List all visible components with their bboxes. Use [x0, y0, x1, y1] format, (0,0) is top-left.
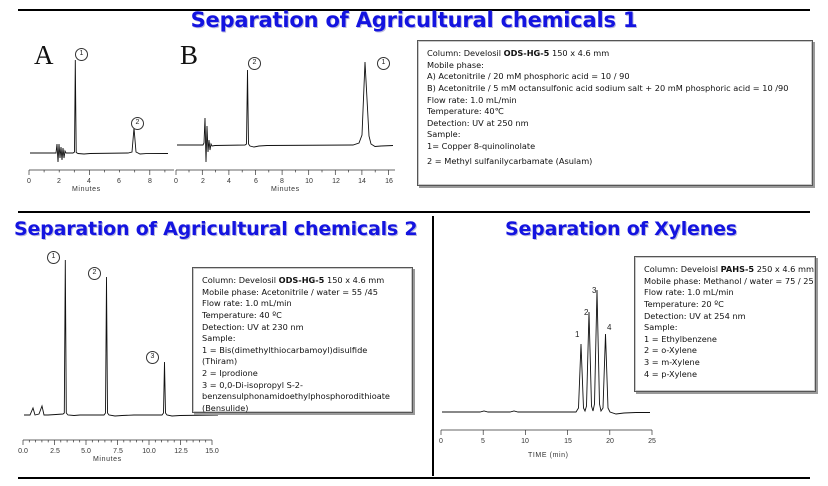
method-info-box-xylenes: Column: Develoisl PAHS-5 250 x 4.6 mm Mo… [634, 256, 816, 392]
chromatogram-b-xtick-0: 0 [174, 178, 178, 185]
peak-label-a-2: 2 [131, 117, 144, 130]
chromatogram-b-xlabel: Minutes [271, 186, 300, 193]
chromatogram-xylenes-xtick-0: 0 [439, 438, 443, 445]
chromatogram-b-xaxis [175, 168, 399, 178]
info-line: 3 = 0,0-Di-isopropyl S-2-benzensulphonam… [202, 380, 403, 415]
chromatogram-a-xtick-0: 0 [27, 178, 31, 185]
chromatogram-agchem2-xlabel: Minutes [93, 456, 122, 463]
method-info-box-agricultural-1: Column: Develosil ODS-HG-5 150 x 4.6 mm … [417, 40, 813, 186]
chromatogram-b [175, 40, 397, 165]
info-line: Sample: [202, 333, 403, 345]
page-title-xylenes: Separation of Xylenes [505, 218, 737, 240]
info-line: 1= Copper 8-quinolinolate [427, 141, 803, 153]
info-line: Flow rate: 1.0 mL/min [427, 95, 803, 107]
chromatogram-agchem2-xtick-1: 2.5 [50, 448, 60, 455]
peak-label-b-1: 1 [377, 57, 390, 70]
info-line: 2 = Iprodione [202, 368, 403, 380]
chromatogram-agchem2-xtick-2: 5.0 [81, 448, 91, 455]
chromatogram-a-xtick-3: 6 [117, 178, 121, 185]
chromatogram-a [28, 40, 176, 165]
chromatogram-xylenes-xtick-2: 10 [521, 438, 529, 445]
chromatogram-xylenes-trace [442, 290, 650, 414]
info-line: Mobile phase: [427, 60, 803, 72]
chromatogram-agchem2-xtick-3: 7.5 [113, 448, 123, 455]
vertical-divider-rule [432, 216, 434, 476]
info-line: Flow rate: 1.0 mL/min [644, 287, 806, 299]
peak-label-xylenes-2: 2 [584, 308, 588, 317]
info-line: 3 = m-Xylene [644, 357, 806, 369]
info-line: Column: Develosil ODS-HG-5 150 x 4.6 mm [202, 275, 403, 287]
info-line: Temperature: 40 ºC [202, 310, 403, 322]
chromatogram-b-trace [177, 62, 393, 162]
peak-label-b-2: 2 [248, 57, 261, 70]
page-title-agricultural-1: Separation of Agricultural chemicals 1 [0, 8, 828, 32]
peak-label-a-1: 1 [75, 48, 88, 61]
chromatogram-b-xtick-4: 8 [280, 178, 284, 185]
chromatogram-agchem2-xaxis [22, 438, 218, 448]
bottom-divider-rule [18, 477, 810, 479]
info-line: Temperature: 40℃ [427, 106, 803, 118]
chromatogram-b-xtick-5: 10 [305, 178, 313, 185]
peak-label-agchem2-2: 2 [88, 267, 101, 280]
info-line: A) Acetonitrile / 20 mM phosphoric acid … [427, 71, 803, 83]
peak-label-xylenes-4: 4 [607, 323, 611, 332]
chromatogram-a-xlabel: Minutes [72, 186, 101, 193]
chromatogram-b-xtick-8: 16 [385, 178, 393, 185]
info-line: 2 = Methyl sulfanilycarbamate (Asulam) [427, 156, 803, 168]
chromatogram-b-xtick-7: 14 [358, 178, 366, 185]
info-line: B) Acetonitrile / 5 mM octansulfonic aci… [427, 83, 803, 95]
info-line: Temperature: 20 ºC [644, 299, 806, 311]
chromatogram-agchem2-xtick-0: 0.0 [18, 448, 28, 455]
info-line: Column: Develoisl PAHS-5 250 x 4.6 mm [644, 264, 806, 276]
chromatogram-b-xtick-6: 12 [332, 178, 340, 185]
chromatogram-agchem2-xtick-6: 15.0 [205, 448, 219, 455]
chromatogram-xylenes-xtick-1: 5 [481, 438, 485, 445]
info-line: 1 = Bis(dimethylthiocarbamoyl)disulfide … [202, 345, 403, 368]
info-line: Mobile phase: Acetonitrile / water = 55 … [202, 287, 403, 299]
info-line: Detection: UV at 254 nm [644, 311, 806, 323]
info-line: Detection: UV at 250 nm [427, 118, 803, 130]
chromatogram-agchem2-trace [24, 260, 218, 416]
peak-label-agchem2-3: 3 [146, 351, 159, 364]
chromatogram-a-trace [30, 60, 168, 162]
chromatogram-b-xtick-1: 2 [201, 178, 205, 185]
chromatogram-xylenes-xtick-4: 20 [606, 438, 614, 445]
chromatogram-a-xtick-4: 8 [148, 178, 152, 185]
chromatogram-a-xtick-1: 2 [57, 178, 61, 185]
chromatogram-xylenes-xaxis [440, 428, 656, 438]
info-line: 4 = p-Xylene [644, 369, 806, 381]
info-line: 2 = o-Xylene [644, 345, 806, 357]
middle-divider-rule [18, 211, 810, 213]
chromatogram-agchem2-xtick-5: 12.5 [174, 448, 188, 455]
application-sheet: Separation of Agricultural chemicals 1 A… [0, 0, 828, 486]
chromatogram-xylenes-xtick-5: 25 [648, 438, 656, 445]
chromatogram-xylenes-xtick-3: 15 [564, 438, 572, 445]
info-line: Flow rate: 1.0 mL/min [202, 298, 403, 310]
peak-label-xylenes-3: 3 [592, 286, 596, 295]
info-line: 1 = Ethylbenzene [644, 334, 806, 346]
info-line: Sample: [644, 322, 806, 334]
chromatogram-b-xtick-3: 6 [254, 178, 258, 185]
peak-label-agchem2-1: 1 [47, 251, 60, 264]
peak-label-xylenes-1: 1 [575, 330, 579, 339]
info-line: Mobile phase: Methanol / water = 75 / 25 [644, 276, 806, 288]
page-title-agricultural-2: Separation of Agricultural chemicals 2 [14, 218, 417, 240]
chromatogram-b-xtick-2: 4 [227, 178, 231, 185]
chromatogram-agchem2-xtick-4: 10.0 [142, 448, 156, 455]
method-info-box-agricultural-2: Column: Develosil ODS-HG-5 150 x 4.6 mm … [192, 267, 413, 413]
chromatogram-a-xtick-2: 4 [87, 178, 91, 185]
info-line: Detection: UV at 230 nm [202, 322, 403, 334]
info-line: Column: Develosil ODS-HG-5 150 x 4.6 mm [427, 48, 803, 60]
info-line: Sample: [427, 129, 803, 141]
chromatogram-xylenes-xlabel: TIME (min) [528, 452, 569, 459]
chromatogram-a-xaxis [28, 168, 178, 178]
